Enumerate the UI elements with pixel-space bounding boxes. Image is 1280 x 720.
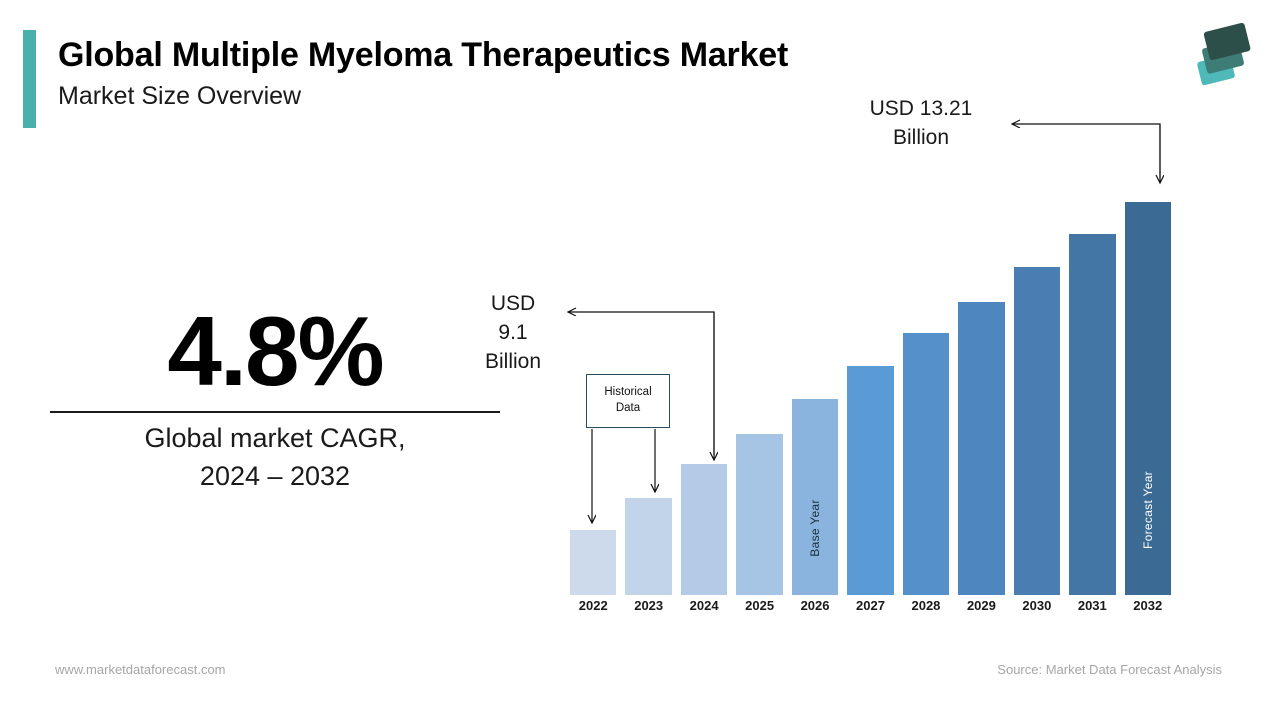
bar-2030[interactable] xyxy=(1014,267,1060,595)
header-accent-bar xyxy=(23,30,36,128)
x-axis-label-2024: 2024 xyxy=(681,598,727,613)
bar-2026[interactable]: Base Year xyxy=(792,399,838,595)
bar-2024[interactable] xyxy=(681,464,727,595)
x-axis-label-2029: 2029 xyxy=(958,598,1004,613)
base-callout-line-1: USD xyxy=(452,290,574,319)
historical-box-line-1: Historical xyxy=(604,386,651,398)
bar-2028[interactable] xyxy=(903,333,949,595)
historical-box-line-2: Data xyxy=(616,402,640,414)
bar-2027[interactable] xyxy=(847,366,893,595)
stacked-layers-logo-icon xyxy=(1180,18,1258,90)
bar-rotated-label-2032: Forecast Year xyxy=(1141,471,1155,549)
x-axis-label-2030: 2030 xyxy=(1014,598,1060,613)
x-axis-label-2031: 2031 xyxy=(1069,598,1115,613)
x-axis-label-2025: 2025 xyxy=(736,598,782,613)
bar-rotated-label-2026: Base Year xyxy=(808,499,822,556)
x-axis-label-2022: 2022 xyxy=(570,598,616,613)
bar-2023[interactable] xyxy=(625,498,671,595)
cagr-caption-line-2: 2024 – 2032 xyxy=(50,457,500,495)
cagr-value: 4.8% xyxy=(50,300,500,403)
x-axis-label-2028: 2028 xyxy=(903,598,949,613)
cagr-block: 4.8% Global market CAGR, 2024 – 2032 xyxy=(50,300,500,496)
forecast-callout-line-1: USD 13.21 xyxy=(842,95,1000,124)
forecast-callout-arrow-icon xyxy=(1012,124,1160,183)
x-axis-label-2032: 2032 xyxy=(1125,598,1171,613)
page-subtitle: Market Size Overview xyxy=(58,82,301,111)
footer-source: Source: Market Data Forecast Analysis xyxy=(997,662,1222,677)
cagr-caption: Global market CAGR, 2024 – 2032 xyxy=(50,419,500,496)
forecast-value-callout: USD 13.21 Billion xyxy=(842,95,1000,153)
base-value-callout: USD 9.1 Billion xyxy=(452,290,574,377)
base-callout-line-3: Billion xyxy=(452,348,574,377)
bar-2022[interactable] xyxy=(570,530,616,595)
x-axis-label-2027: 2027 xyxy=(847,598,893,613)
footer-url[interactable]: www.marketdataforecast.com xyxy=(55,662,226,677)
page-title: Global Multiple Myeloma Therapeutics Mar… xyxy=(58,36,788,75)
cagr-divider xyxy=(50,411,500,413)
bar-2031[interactable] xyxy=(1069,234,1115,595)
cagr-caption-line-1: Global market CAGR, xyxy=(50,419,500,457)
bar-2032[interactable]: Forecast Year xyxy=(1125,202,1171,595)
bar-2029[interactable] xyxy=(958,302,1004,595)
base-callout-line-2: 9.1 xyxy=(452,319,574,348)
bar-2025[interactable] xyxy=(736,434,782,595)
historical-data-box: Historical Data xyxy=(586,374,670,428)
x-axis-label-2023: 2023 xyxy=(625,598,671,613)
forecast-callout-line-2: Billion xyxy=(842,124,1000,153)
x-axis-label-2026: 2026 xyxy=(792,598,838,613)
